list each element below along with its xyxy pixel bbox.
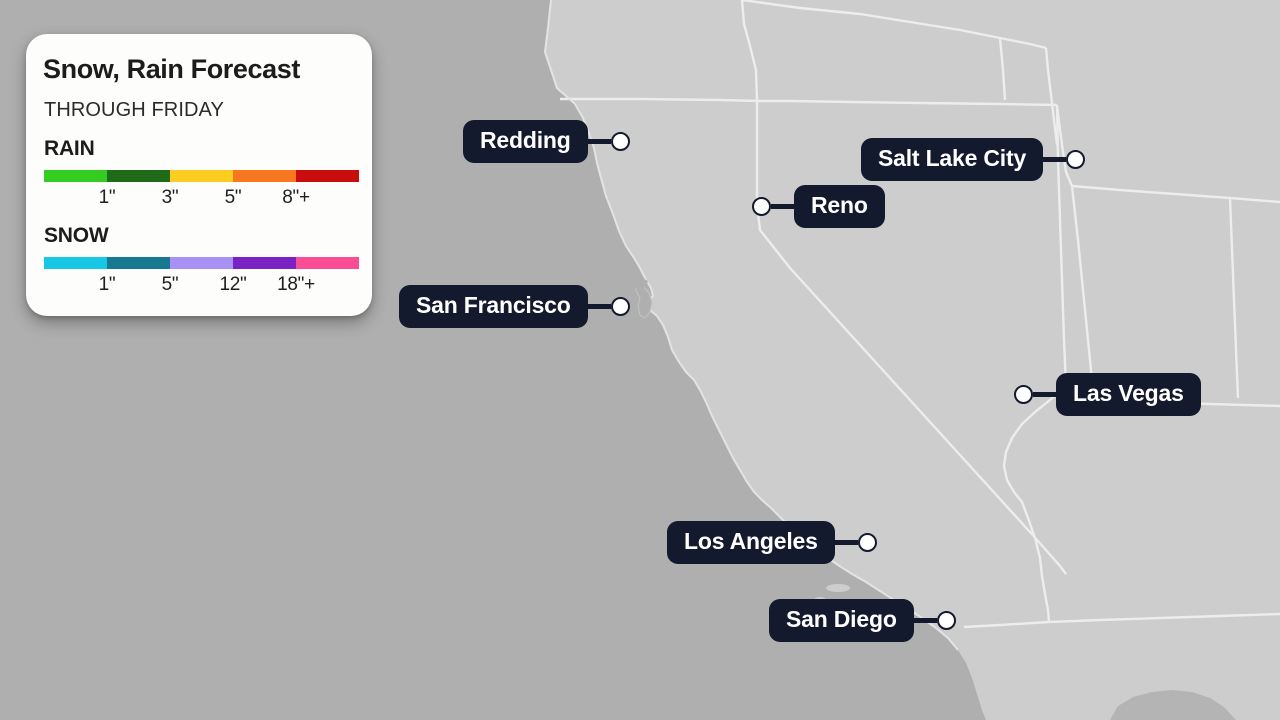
marker-dot[interactable]	[1066, 150, 1085, 169]
marker-stem	[832, 540, 858, 545]
scale-segment-0	[44, 170, 107, 182]
island-santa-cruz	[826, 584, 850, 592]
city-marker-redding[interactable]: Redding	[463, 120, 630, 163]
city-label-san-francisco[interactable]: San Francisco	[399, 285, 588, 328]
city-marker-salt-lake-city[interactable]: Salt Lake City	[861, 138, 1085, 181]
scale-tick-spacer	[321, 187, 384, 209]
legend-section-snow: SNOW 1"5"12"18"+	[42, 224, 350, 296]
scale-segment-0	[44, 257, 107, 269]
legend-title: Snow, Rain Forecast	[42, 56, 350, 83]
legend-section-label-snow: SNOW	[42, 224, 350, 248]
scale-tick-1: 3"	[139, 187, 202, 209]
scale-tick-0: 1"	[76, 274, 139, 296]
scale-segment-2	[170, 257, 233, 269]
scale-segment-4	[296, 257, 359, 269]
rain-scale-ticks: 1"3"5"8"+	[44, 187, 359, 209]
city-label-san-diego[interactable]: San Diego	[769, 599, 914, 642]
marker-dot[interactable]	[937, 611, 956, 630]
marker-stem	[911, 618, 937, 623]
city-marker-reno[interactable]: Reno	[752, 185, 885, 228]
city-marker-san-francisco[interactable]: San Francisco	[399, 285, 630, 328]
city-label-salt-lake-city[interactable]: Salt Lake City	[861, 138, 1043, 181]
marker-dot[interactable]	[752, 197, 771, 216]
scale-tick-3: 8"+	[265, 187, 328, 209]
scale-segment-3	[233, 257, 296, 269]
legend-section-rain: RAIN 1"3"5"8"+	[42, 137, 350, 209]
snow-color-scale	[44, 257, 359, 269]
marker-dot[interactable]	[611, 297, 630, 316]
city-label-redding[interactable]: Redding	[463, 120, 588, 163]
scale-segment-4	[296, 170, 359, 182]
city-label-reno[interactable]: Reno	[794, 185, 885, 228]
legend-subtitle: THROUGH FRIDAY	[42, 99, 350, 122]
scale-segment-1	[107, 257, 170, 269]
city-marker-los-angeles[interactable]: Los Angeles	[667, 521, 877, 564]
rain-color-scale	[44, 170, 359, 182]
city-marker-las-vegas[interactable]: Las Vegas	[1014, 373, 1201, 416]
forecast-legend-card: Snow, Rain Forecast THROUGH FRIDAY RAIN …	[26, 34, 372, 316]
snow-scale-ticks: 1"5"12"18"+	[44, 274, 359, 296]
marker-stem	[1040, 157, 1066, 162]
scale-segment-1	[107, 170, 170, 182]
marker-dot[interactable]	[1014, 385, 1033, 404]
scale-tick-spacer	[321, 274, 384, 296]
scale-tick-1: 5"	[139, 274, 202, 296]
marker-dot[interactable]	[858, 533, 877, 552]
scale-tick-0: 1"	[76, 187, 139, 209]
scale-segment-2	[170, 170, 233, 182]
weather-map-screen: Redding Salt Lake City Reno San Francisc…	[0, 0, 1280, 720]
scale-segment-3	[233, 170, 296, 182]
scale-tick-3: 18"+	[265, 274, 328, 296]
city-label-los-angeles[interactable]: Los Angeles	[667, 521, 835, 564]
legend-section-label-rain: RAIN	[42, 137, 350, 161]
city-label-las-vegas[interactable]: Las Vegas	[1056, 373, 1201, 416]
marker-dot[interactable]	[611, 132, 630, 151]
city-marker-san-diego[interactable]: San Diego	[769, 599, 956, 642]
marker-stem	[585, 304, 611, 309]
scale-tick-2: 5"	[202, 187, 265, 209]
marker-stem	[585, 139, 611, 144]
scale-tick-2: 12"	[202, 274, 265, 296]
